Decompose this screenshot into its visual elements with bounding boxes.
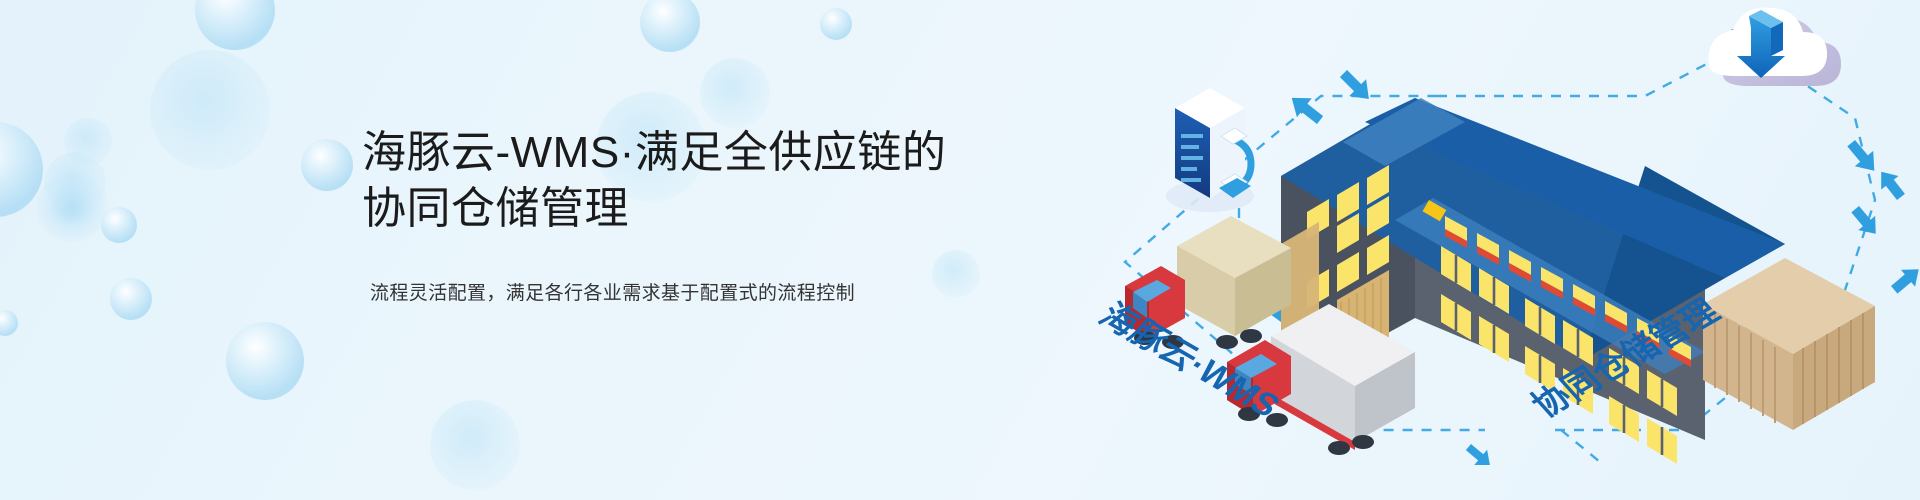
hero-subtitle: 流程灵活配置，满足各行各业需求基于配置式的流程控制	[370, 278, 1002, 305]
decorative-bubble	[820, 8, 852, 40]
warehouse-illustration: 海豚云·WMS 协同仓储管理	[1085, 0, 1920, 500]
decorative-bubble	[44, 152, 106, 214]
decorative-bubble	[150, 50, 270, 170]
decorative-bubble	[0, 122, 43, 217]
server-rack-icon	[1166, 88, 1254, 212]
headline-line-1: 海豚云-WMS·满足全供应链的	[362, 128, 946, 177]
hero-copy: 海豚云-WMS·满足全供应链的 协同仓储管理 流程灵活配置，满足各行各业需求基于…	[362, 96, 1002, 324]
wms-hero-banner: 海豚云-WMS·满足全供应链的 协同仓储管理 流程灵活配置，满足各行各业需求基于…	[0, 0, 1920, 500]
decorative-bubble	[36, 170, 108, 242]
decorative-bubble	[430, 400, 520, 490]
decorative-bubble	[110, 278, 152, 320]
decorative-bubble	[64, 118, 112, 166]
page-title: 海豚云-WMS·满足全供应链的 协同仓储管理	[362, 125, 1002, 236]
decorative-bubble	[640, 0, 700, 52]
decorative-bubble	[301, 139, 353, 191]
shipping-container-icon	[1703, 258, 1875, 430]
cloud-download-icon	[1709, 7, 1842, 86]
decorative-bubble	[101, 207, 137, 243]
decorative-bubble	[226, 322, 304, 400]
decorative-bubble	[195, 0, 275, 50]
headline-line-2: 协同仓储管理	[362, 181, 1002, 236]
decorative-bubble	[0, 310, 18, 336]
